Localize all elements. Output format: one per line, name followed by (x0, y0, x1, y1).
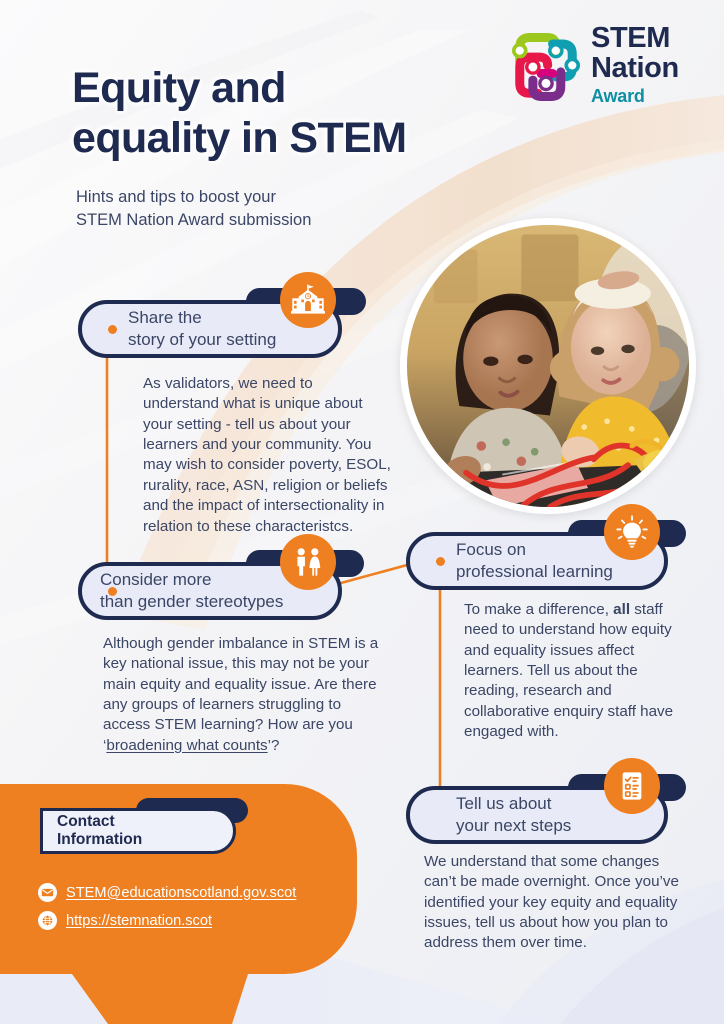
body-text-part2: ’? (268, 737, 280, 754)
page-title: Equity and equality in STEM (72, 64, 492, 164)
lightbulb-glyph (615, 515, 649, 549)
page-subtitle-line1: Hints and tips to boost your (76, 186, 406, 209)
pill-title-line1: Share the (128, 307, 276, 329)
pill-title: Tell us about your next steps (410, 793, 571, 837)
pill-title-line2: professional learning (456, 561, 613, 583)
gender-figures-glyph (291, 545, 325, 579)
section-body-gender-stereotypes: Although gender imbalance in STEM is a k… (103, 634, 388, 756)
broadening-what-counts-link[interactable]: broadening what counts (106, 737, 267, 754)
logo-line-stem: STEM (591, 24, 679, 54)
checklist-clipboard-icon (604, 758, 660, 814)
stem-nation-award-logo: STEM Nation Award (505, 24, 705, 110)
logo-line-award: Award (591, 86, 679, 107)
school-building-glyph (291, 283, 325, 317)
pill-title-line1: Consider more (100, 569, 283, 591)
lightbulb-icon (604, 504, 660, 560)
pill-title-line1: Focus on (456, 539, 613, 561)
envelope-glyph (41, 886, 54, 899)
connector-dot (108, 325, 117, 334)
school-building-icon (280, 272, 336, 328)
section-body-professional-learning: To make a difference, all staff need to … (464, 600, 682, 743)
pill-body: Contact Information (40, 808, 236, 854)
contact-heading-line2: Information (57, 831, 142, 849)
body-text-part1: To make a difference, (464, 601, 613, 618)
globe-glyph (41, 914, 54, 927)
children-stem-activity-photo (400, 218, 696, 514)
envelope-icon (38, 883, 57, 902)
section-body-share-story: As validators, we need to understand wha… (143, 374, 391, 537)
checklist-glyph (615, 769, 649, 803)
section-header-professional-learning[interactable]: Focus on professional learning (406, 532, 672, 594)
stem-nation-logo-mark (505, 26, 587, 108)
section-body-next-steps: We understand that some changes can’t be… (424, 852, 680, 954)
page-subtitle: Hints and tips to boost your STEM Nation… (76, 186, 406, 232)
body-text-part2: staff need to understand how equity and … (464, 601, 673, 740)
connector-dot (436, 557, 445, 566)
contact-email-row[interactable]: STEM@educationscotland.gov.scot (38, 883, 296, 902)
contact-information-header: Contact Information (40, 798, 250, 850)
contact-website-row[interactable]: https://stemnation.scot (38, 911, 212, 930)
male-female-figures-icon (280, 534, 336, 590)
body-text-emphasis: all (613, 601, 630, 618)
page-title-line1: Equity and (72, 64, 492, 114)
website-link[interactable]: https://stemnation.scot (66, 913, 212, 929)
pill-title-line2: story of your setting (128, 329, 276, 351)
pill-title-line2: than gender stereotypes (100, 591, 283, 613)
contact-heading: Contact Information (43, 813, 142, 850)
infographic-page: Equity and equality in STEM Hints and ti… (0, 0, 724, 1024)
section-header-next-steps[interactable]: Tell us about your next steps (406, 786, 672, 848)
section-header-share-story[interactable]: Share the story of your setting (78, 300, 348, 362)
logo-line-nation: Nation (591, 54, 679, 84)
pill-title-line1: Tell us about (456, 793, 571, 815)
photo-illustration (407, 225, 689, 507)
contact-heading-line1: Contact (57, 813, 142, 831)
pill-title-line2: your next steps (456, 815, 571, 837)
logo-wordmark: STEM Nation Award (591, 24, 679, 107)
page-subtitle-line2: STEM Nation Award submission (76, 209, 406, 232)
email-link[interactable]: STEM@educationscotland.gov.scot (66, 885, 296, 901)
section-header-gender-stereotypes[interactable]: Consider more than gender stereotypes (78, 562, 348, 624)
globe-icon (38, 911, 57, 930)
page-title-line2: equality in STEM (72, 114, 492, 164)
connector-dot (108, 587, 117, 596)
